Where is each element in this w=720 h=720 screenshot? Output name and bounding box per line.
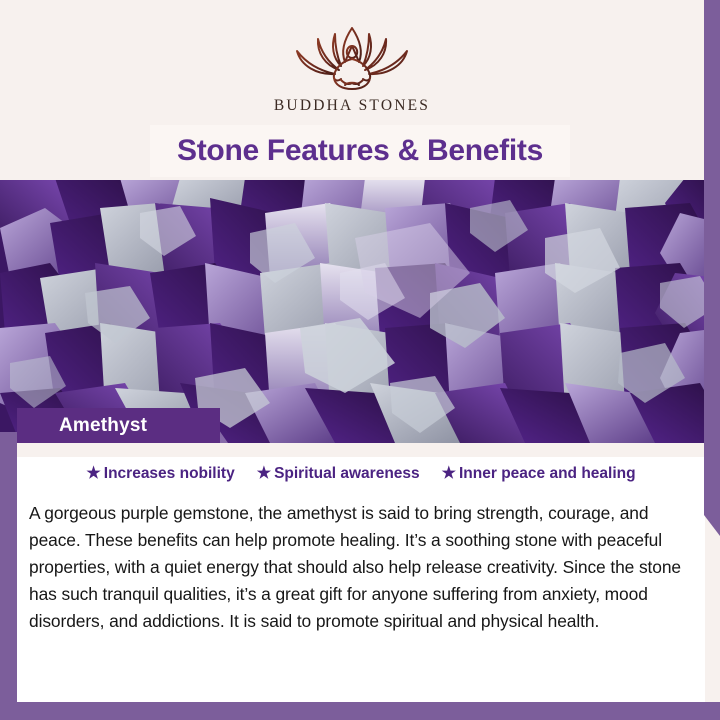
infographic-page: Amethyst ★ Increases nobility ★ Spiritua… bbox=[0, 0, 720, 720]
benefit-item: ★ Inner peace and healing bbox=[442, 465, 636, 483]
benefit-label: Spiritual awareness bbox=[274, 465, 420, 483]
star-icon: ★ bbox=[257, 466, 271, 482]
brand-logo: BUDDHA STONES bbox=[0, 22, 704, 115]
page-title-bar: Stone Features & Benefits bbox=[150, 125, 570, 177]
description-text: A gorgeous purple gemstone, the amethyst… bbox=[29, 500, 697, 635]
benefit-item: ★ Increases nobility bbox=[86, 465, 234, 483]
brand-name: BUDDHA STONES bbox=[274, 97, 430, 115]
amethyst-photo bbox=[0, 178, 720, 443]
benefit-item: ★ Spiritual awareness bbox=[257, 465, 420, 483]
lotus-meditation-icon bbox=[277, 22, 427, 94]
star-icon: ★ bbox=[442, 466, 456, 482]
benefits-list: ★ Increases nobility ★ Spiritual awarene… bbox=[17, 465, 705, 483]
page-header: BUDDHA STONES Stone Features & Benefits bbox=[0, 0, 704, 180]
page-title: Stone Features & Benefits bbox=[177, 134, 543, 168]
description-card-top-strip bbox=[17, 443, 705, 457]
left-purple-band bbox=[0, 432, 17, 720]
bottom-purple-band bbox=[0, 702, 720, 720]
stone-name-label: Amethyst bbox=[17, 408, 220, 443]
benefit-label: Increases nobility bbox=[104, 465, 235, 483]
star-icon: ★ bbox=[86, 466, 100, 482]
right-purple-band bbox=[704, 0, 720, 536]
stone-name-text: Amethyst bbox=[17, 415, 147, 437]
benefit-label: Inner peace and healing bbox=[459, 465, 636, 483]
